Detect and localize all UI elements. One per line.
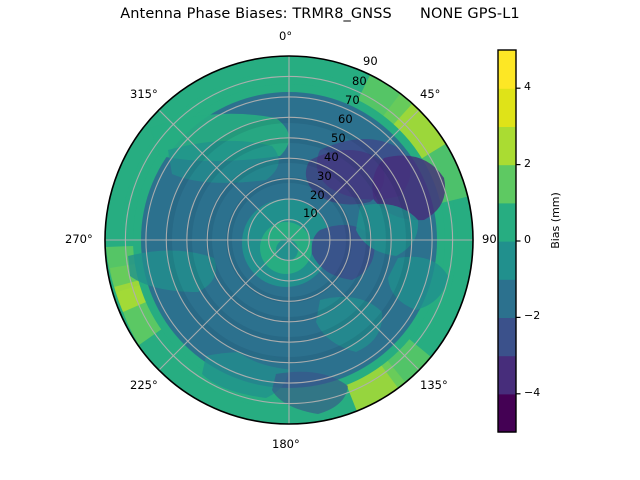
angular-tick-180: 180° <box>272 437 300 451</box>
colorbar-band-3 <box>498 279 516 318</box>
colorbar-band-6 <box>498 165 516 204</box>
angular-tick-135: 135° <box>420 378 448 392</box>
colorbar-band-2 <box>498 317 516 356</box>
colorbar-bands <box>498 50 516 433</box>
angular-tick-315: 315° <box>130 87 158 101</box>
radial-tick-50: 50 <box>331 131 346 145</box>
colorbar-tick-label-1: −2 <box>524 309 540 322</box>
radial-tick-40: 40 <box>324 150 339 164</box>
colorbar-band-9 <box>498 50 516 89</box>
angular-tick-270: 270° <box>65 232 93 246</box>
colorbar-band-4 <box>498 241 516 280</box>
colorbar-tick-label-4: 4 <box>524 80 531 93</box>
colorbar-band-0 <box>498 394 516 433</box>
radial-tick-20: 20 <box>310 188 325 202</box>
colorbar-band-8 <box>498 88 516 127</box>
colorbar-tick-label-3: 2 <box>524 157 531 170</box>
radial-tick-60: 60 <box>338 112 353 126</box>
colorbar-tick-label-2: 0 <box>524 233 531 246</box>
radial-tick-30: 30 <box>317 169 332 183</box>
colorbar-band-1 <box>498 356 516 395</box>
figure-canvas: Antenna Phase Biases: TRMR8_GNSS NONE GP… <box>0 0 640 480</box>
angular-tick-45: 45° <box>420 87 440 101</box>
colorbar-tick-label-0: −4 <box>524 386 540 399</box>
colorbar-axis-label: Bias (mm) <box>549 192 562 249</box>
angular-tick-225: 225° <box>130 378 158 392</box>
radial-tick-90: 90 <box>363 54 378 68</box>
radial-tick-80: 80 <box>352 74 367 88</box>
polar-grid-spokes <box>105 56 473 424</box>
radial-tick-10: 10 <box>303 206 318 220</box>
colorbar-band-5 <box>498 203 516 242</box>
angular-tick-0: 0° <box>279 29 292 43</box>
radial-tick-70: 70 <box>345 93 360 107</box>
colorbar-band-7 <box>498 126 516 165</box>
